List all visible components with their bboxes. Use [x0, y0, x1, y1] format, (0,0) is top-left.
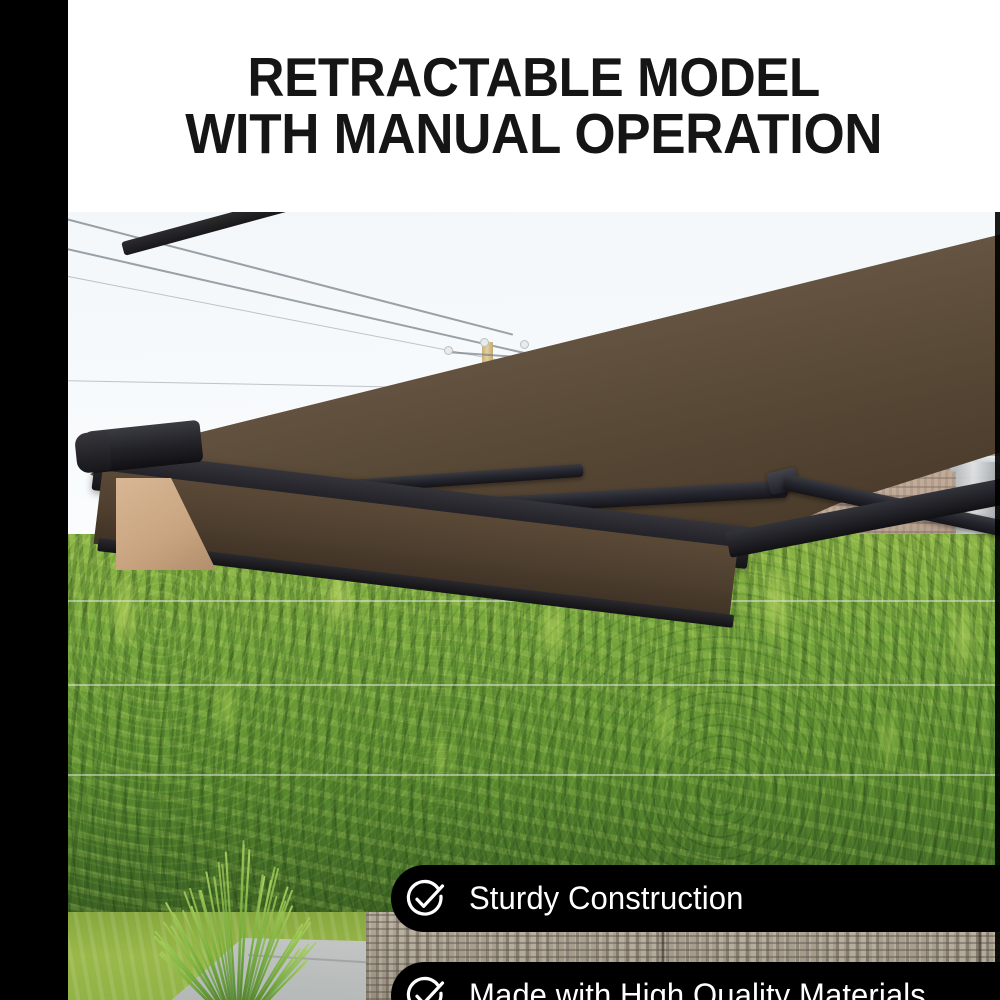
- pill-spacer-1: [391, 932, 1000, 962]
- check-circle-icon: [403, 876, 449, 922]
- cassette-end-cap: [74, 431, 112, 474]
- product-feature-image: RETRACTABLE MODEL WITH MANUAL OPERATION: [0, 0, 1000, 1000]
- product-photo: Sturdy Construction Made with High Quali…: [68, 212, 1000, 1000]
- headline-band: RETRACTABLE MODEL WITH MANUAL OPERATION: [68, 0, 1000, 212]
- feature-pill-1[interactable]: Sturdy Construction: [391, 865, 1000, 932]
- headline-line-2: WITH MANUAL OPERATION: [185, 105, 882, 163]
- check-circle-icon: [403, 973, 449, 1000]
- right-edge-border: [995, 212, 1000, 1000]
- canopy-leading-edge: [121, 212, 1000, 256]
- feature-pill-2[interactable]: Made with High Quality Materials: [391, 962, 1000, 1000]
- feature-label: Sturdy Construction: [469, 880, 743, 917]
- feature-list: Sturdy Construction Made with High Quali…: [391, 865, 1000, 1000]
- feature-label: Made with High Quality Materials: [469, 977, 926, 1000]
- headline-line-1: RETRACTABLE MODEL: [248, 49, 820, 105]
